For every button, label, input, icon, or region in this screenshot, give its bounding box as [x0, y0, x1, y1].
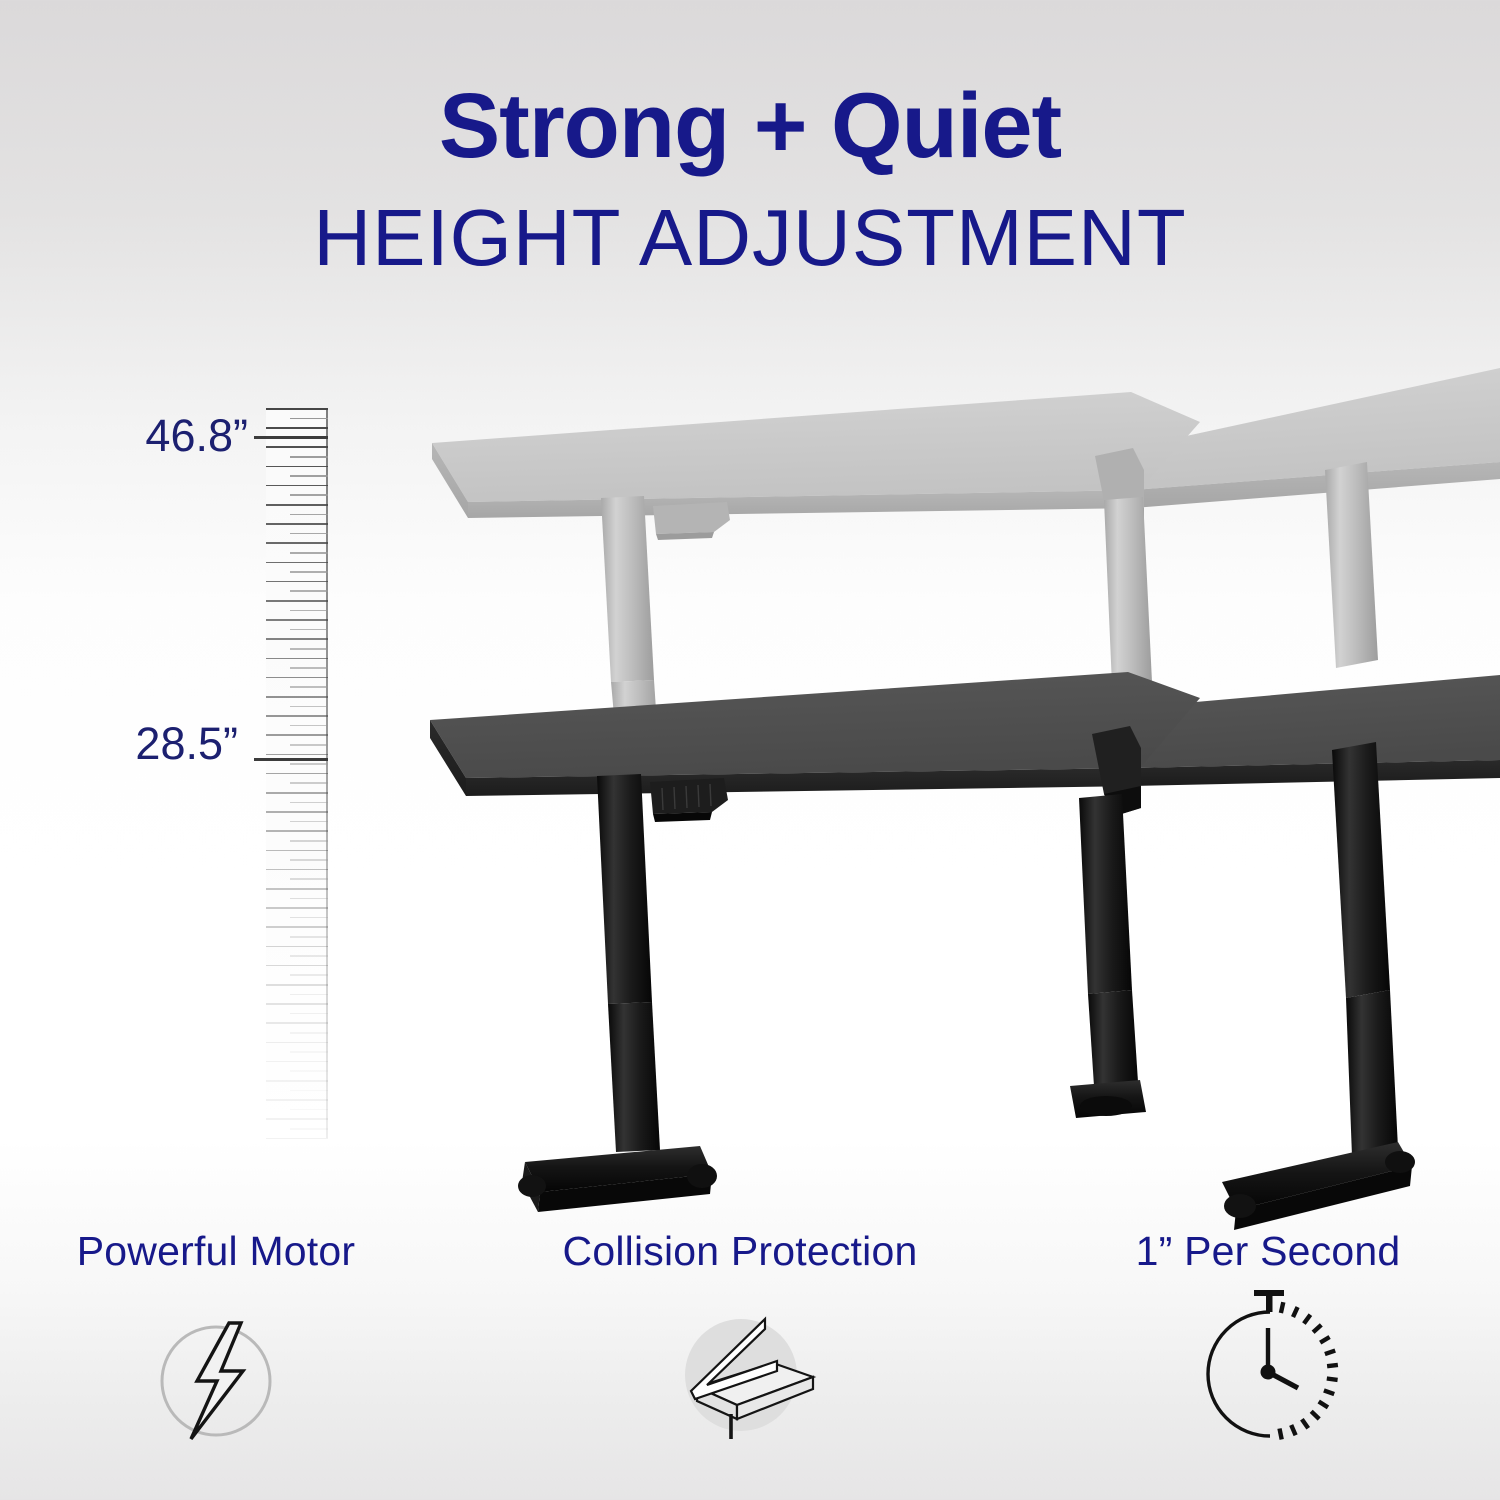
- raised-desk-left-wing: [432, 392, 1200, 518]
- infographic-canvas: Strong + Quiet HEIGHT ADJUSTMENT 46.8” 2…: [0, 0, 1500, 1500]
- feature-powerful-motor: Powerful Motor: [0, 1228, 466, 1459]
- clock-icon: [1018, 1289, 1500, 1459]
- lowered-desk-control-keypad: [650, 778, 728, 822]
- lowered-desk-center-leg: [1070, 794, 1146, 1118]
- lightning-bolt-icon: [0, 1289, 466, 1459]
- feature-row: Powerful Motor Collision Protection: [0, 1228, 1500, 1500]
- feature-speed: 1” Per Second: [1018, 1228, 1500, 1459]
- raised-desk-control-keypad: [653, 502, 730, 540]
- lowered-desk-right-leg: [1222, 742, 1415, 1230]
- lowered-desk-left-leg: [518, 774, 717, 1212]
- lowered-desk-left-wing: [430, 672, 1200, 796]
- page-subtitle: HEIGHT ADJUSTMENT: [0, 196, 1500, 280]
- collision-desktop-icon: [490, 1289, 990, 1459]
- feature-label: 1” Per Second: [1018, 1228, 1500, 1275]
- desk-illustration: [0, 330, 1500, 1260]
- feature-collision-protection: Collision Protection: [490, 1228, 990, 1459]
- page-title: Strong + Quiet: [0, 78, 1500, 175]
- lowered-desk-right-wing: [1128, 675, 1500, 786]
- feature-label: Powerful Motor: [0, 1228, 466, 1275]
- raised-desk-right-wing: [1131, 368, 1500, 508]
- raised-desk-right-column: [1325, 462, 1378, 668]
- feature-label: Collision Protection: [490, 1228, 990, 1275]
